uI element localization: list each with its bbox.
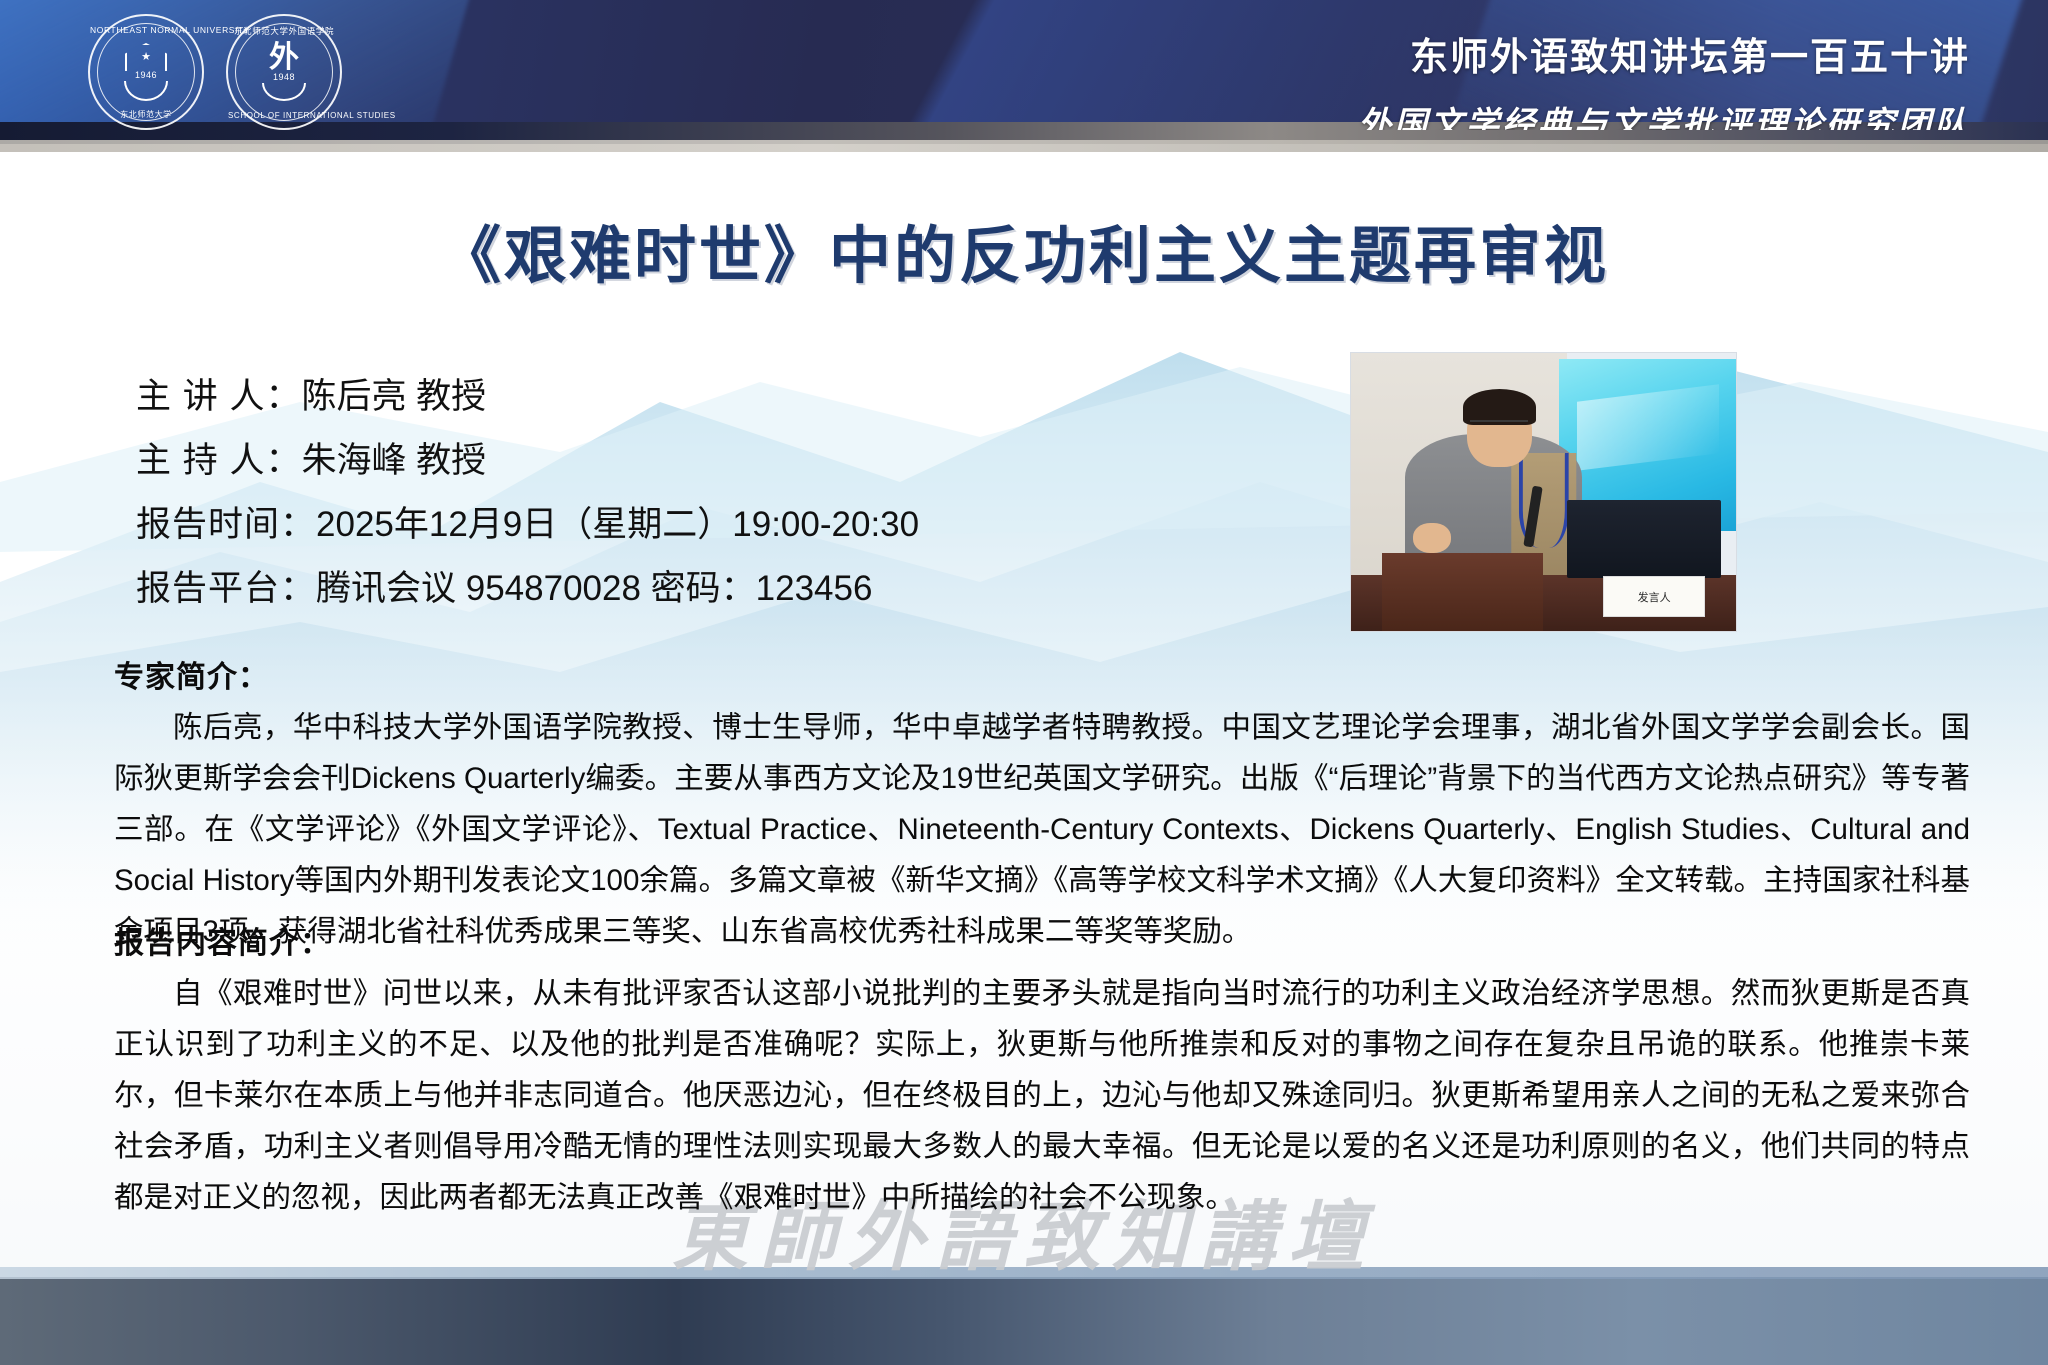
- seal-arc-top-text: NORTHEAST NORMAL UNIVERSITY: [90, 25, 202, 35]
- info-label: 主 讲 人：: [136, 377, 301, 416]
- lecture-abstract-body: 自《艰难时世》问世以来，从未有批评家否认这部小说批判的主要矛头就是指向当时流行的…: [114, 968, 1970, 1223]
- laptop-icon: [1567, 500, 1721, 578]
- info-label: 主 持 人：: [136, 441, 301, 480]
- book-icon: [262, 83, 306, 101]
- info-row-host: 主 持 人：朱海峰 教授: [136, 429, 919, 493]
- speaker-photo: 发言人: [1350, 352, 1737, 632]
- photo-podium: [1382, 553, 1544, 631]
- lecture-poster: NORTHEAST NORMAL UNIVERSITY ★ 1946 东北师范大…: [0, 0, 2048, 1365]
- photo-nameplate: 发言人: [1603, 576, 1705, 617]
- lecture-abstract-heading: 报告内容简介：: [114, 918, 2048, 962]
- info-value: 陈后亮 教授: [301, 377, 486, 416]
- poster-header: NORTHEAST NORMAL UNIVERSITY ★ 1946 东北师范大…: [0, 0, 2048, 130]
- seal-arc-bottom-text: SCHOOL OF INTERNATIONAL STUDIES: [228, 111, 340, 120]
- info-row-platform: 报告平台：腾讯会议 954870028 密码：123456: [136, 557, 919, 621]
- info-value: 2025年12月9日（星期二）19:00-20:30: [316, 505, 919, 544]
- northeast-normal-university-seal-icon: NORTHEAST NORMAL UNIVERSITY ★ 1946 东北师范大…: [88, 14, 204, 130]
- info-value: 朱海峰 教授: [301, 441, 486, 480]
- school-of-international-studies-seal-icon: 东北师范大学外国语学院 外 1948 SCHOOL OF INTERNATION…: [226, 14, 342, 130]
- book-icon: [124, 81, 168, 101]
- expert-intro-section: 专家简介： 陈后亮，华中科技大学外国语学院教授、博士生导师，华中卓越学者特聘教授…: [0, 652, 2048, 957]
- shield-icon: ★: [125, 43, 167, 71]
- seal-arc-bottom-text: 东北师范大学: [90, 109, 202, 120]
- logo-group: NORTHEAST NORMAL UNIVERSITY ★ 1946 东北师范大…: [88, 14, 342, 130]
- seal-glyph: 外: [269, 43, 299, 73]
- info-row-speaker: 主 讲 人：陈后亮 教授: [136, 365, 919, 429]
- glasses-icon: [1470, 420, 1528, 433]
- seal-core: ★ 1946: [117, 43, 175, 101]
- seal-year: 1946: [135, 70, 157, 80]
- header-divider-band-light: [0, 140, 2048, 152]
- info-label: 报告平台：: [136, 569, 316, 608]
- info-value: 腾讯会议 954870028 密码：123456: [316, 569, 872, 608]
- star-icon: ★: [141, 52, 151, 63]
- bottom-gradient-band: [0, 1277, 2048, 1365]
- lecture-series-title: 东师外语致知讲坛第一百五十讲: [1358, 26, 1970, 81]
- expert-intro-heading: 专家简介：: [114, 652, 2048, 696]
- seal-year: 1948: [273, 72, 295, 82]
- lecture-info-block: 主 讲 人：陈后亮 教授 主 持 人：朱海峰 教授 报告时间：2025年12月9…: [136, 365, 919, 621]
- info-label: 报告时间：: [136, 505, 316, 544]
- header-text-group: 东师外语致知讲坛第一百五十讲 外国文学经典与文学批评理论研究团队: [1358, 26, 1970, 130]
- seal-arc-top-text: 东北师范大学外国语学院: [228, 25, 340, 37]
- photo-nameplate-label: 发言人: [1638, 589, 1671, 605]
- page-title: 《艰难时世》中的反功利主义主题再审视: [0, 205, 2048, 295]
- research-team-title: 外国文学经典与文学批评理论研究团队: [1358, 97, 1970, 130]
- lecture-abstract-section: 报告内容简介： 自《艰难时世》问世以来，从未有批评家否认这部小说批判的主要矛头就…: [0, 918, 2048, 1223]
- info-row-time: 报告时间：2025年12月9日（星期二）19:00-20:30: [136, 493, 919, 557]
- photo-speaker-hand: [1413, 523, 1452, 554]
- seal-core: 外 1948: [255, 43, 313, 101]
